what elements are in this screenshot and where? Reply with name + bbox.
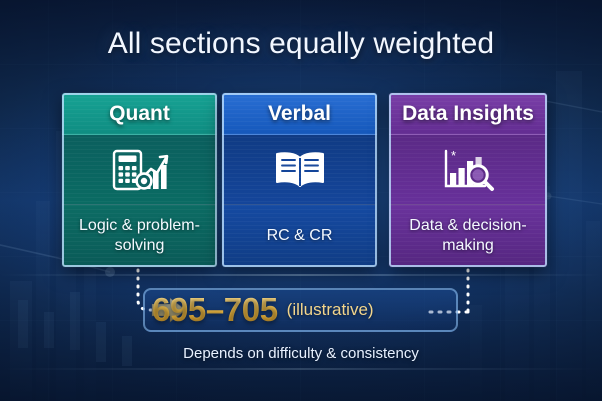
svg-text:*: * xyxy=(451,148,456,163)
section-card-data-insights[interactable]: Data Insights * Data & decision-making xyxy=(389,93,547,267)
card-heading-quant: Quant xyxy=(62,93,217,135)
card-heading-verbal: Verbal xyxy=(222,93,377,135)
footer-caption: Depends on difficulty & consistency xyxy=(0,345,602,362)
bar-chart-magnifier-icon: * xyxy=(389,135,547,205)
card-description-quant: Logic & problem-solving xyxy=(62,205,217,267)
page-title: All sections equally weighted xyxy=(0,27,602,61)
card-description-data-insights: Data & decision-making xyxy=(389,205,547,267)
card-heading-data-insights: Data Insights xyxy=(389,93,547,135)
score-range-note: (illustrative) xyxy=(287,300,374,320)
score-range-value: 695–705 xyxy=(152,291,278,329)
open-book-icon xyxy=(222,135,377,205)
score-range-row: 695–705 (illustrative) xyxy=(152,288,452,332)
calculator-chart-icon xyxy=(62,135,217,205)
section-card-quant[interactable]: Quant xyxy=(62,93,217,267)
slide-canvas: All sections equally weighted Quant xyxy=(0,0,602,401)
section-card-verbal[interactable]: Verbal RC & CR xyxy=(222,93,377,267)
card-description-verbal: RC & CR xyxy=(222,205,377,267)
